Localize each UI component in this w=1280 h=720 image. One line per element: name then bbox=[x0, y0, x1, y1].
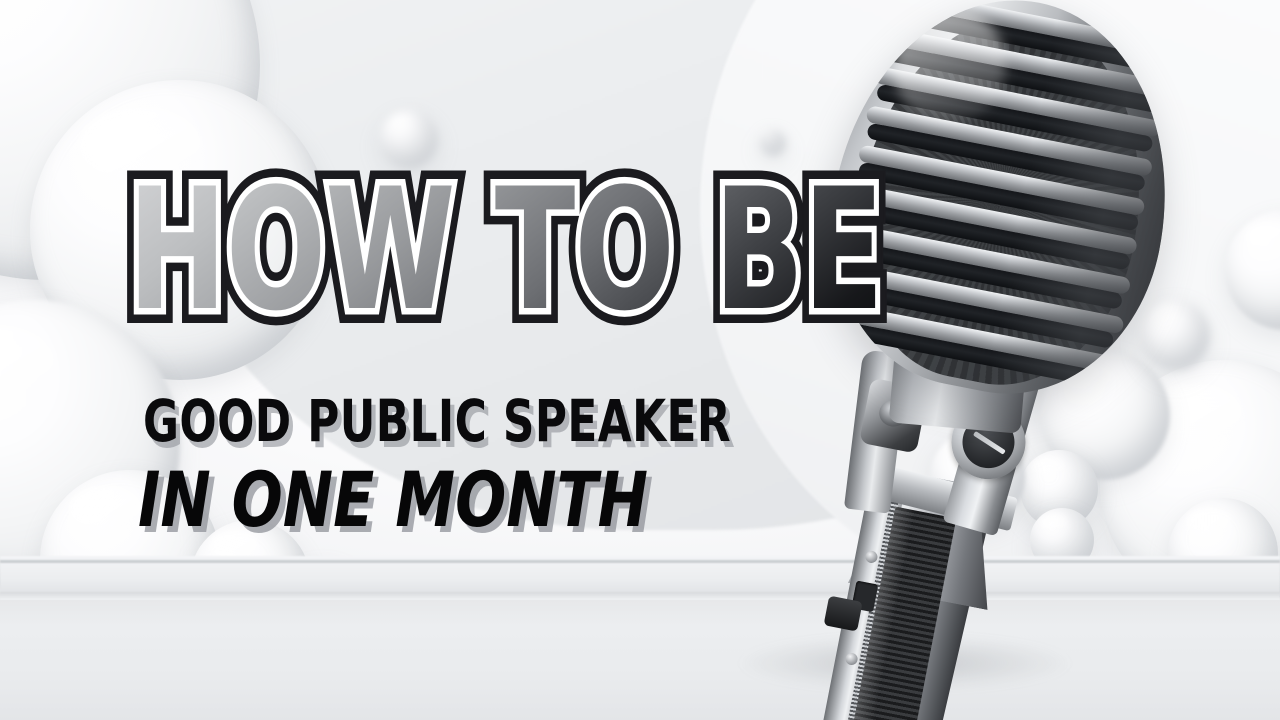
subtitle-line-2: IN ONE MONTH bbox=[138, 462, 648, 538]
thumbnail-canvas: HOW TO BE HOW TO BE HOW TO BE HOW TO BE … bbox=[0, 0, 1280, 720]
subtitle-line-1: GOOD PUBLIC SPEAKER bbox=[143, 392, 731, 450]
mic-rail-knob bbox=[824, 596, 863, 632]
microphone-illustration bbox=[716, 0, 1186, 720]
title-text-block: HOW TO BE HOW TO BE HOW TO BE HOW TO BE … bbox=[0, 0, 720, 720]
headline-gradient-fill: HOW TO BE bbox=[128, 168, 883, 333]
